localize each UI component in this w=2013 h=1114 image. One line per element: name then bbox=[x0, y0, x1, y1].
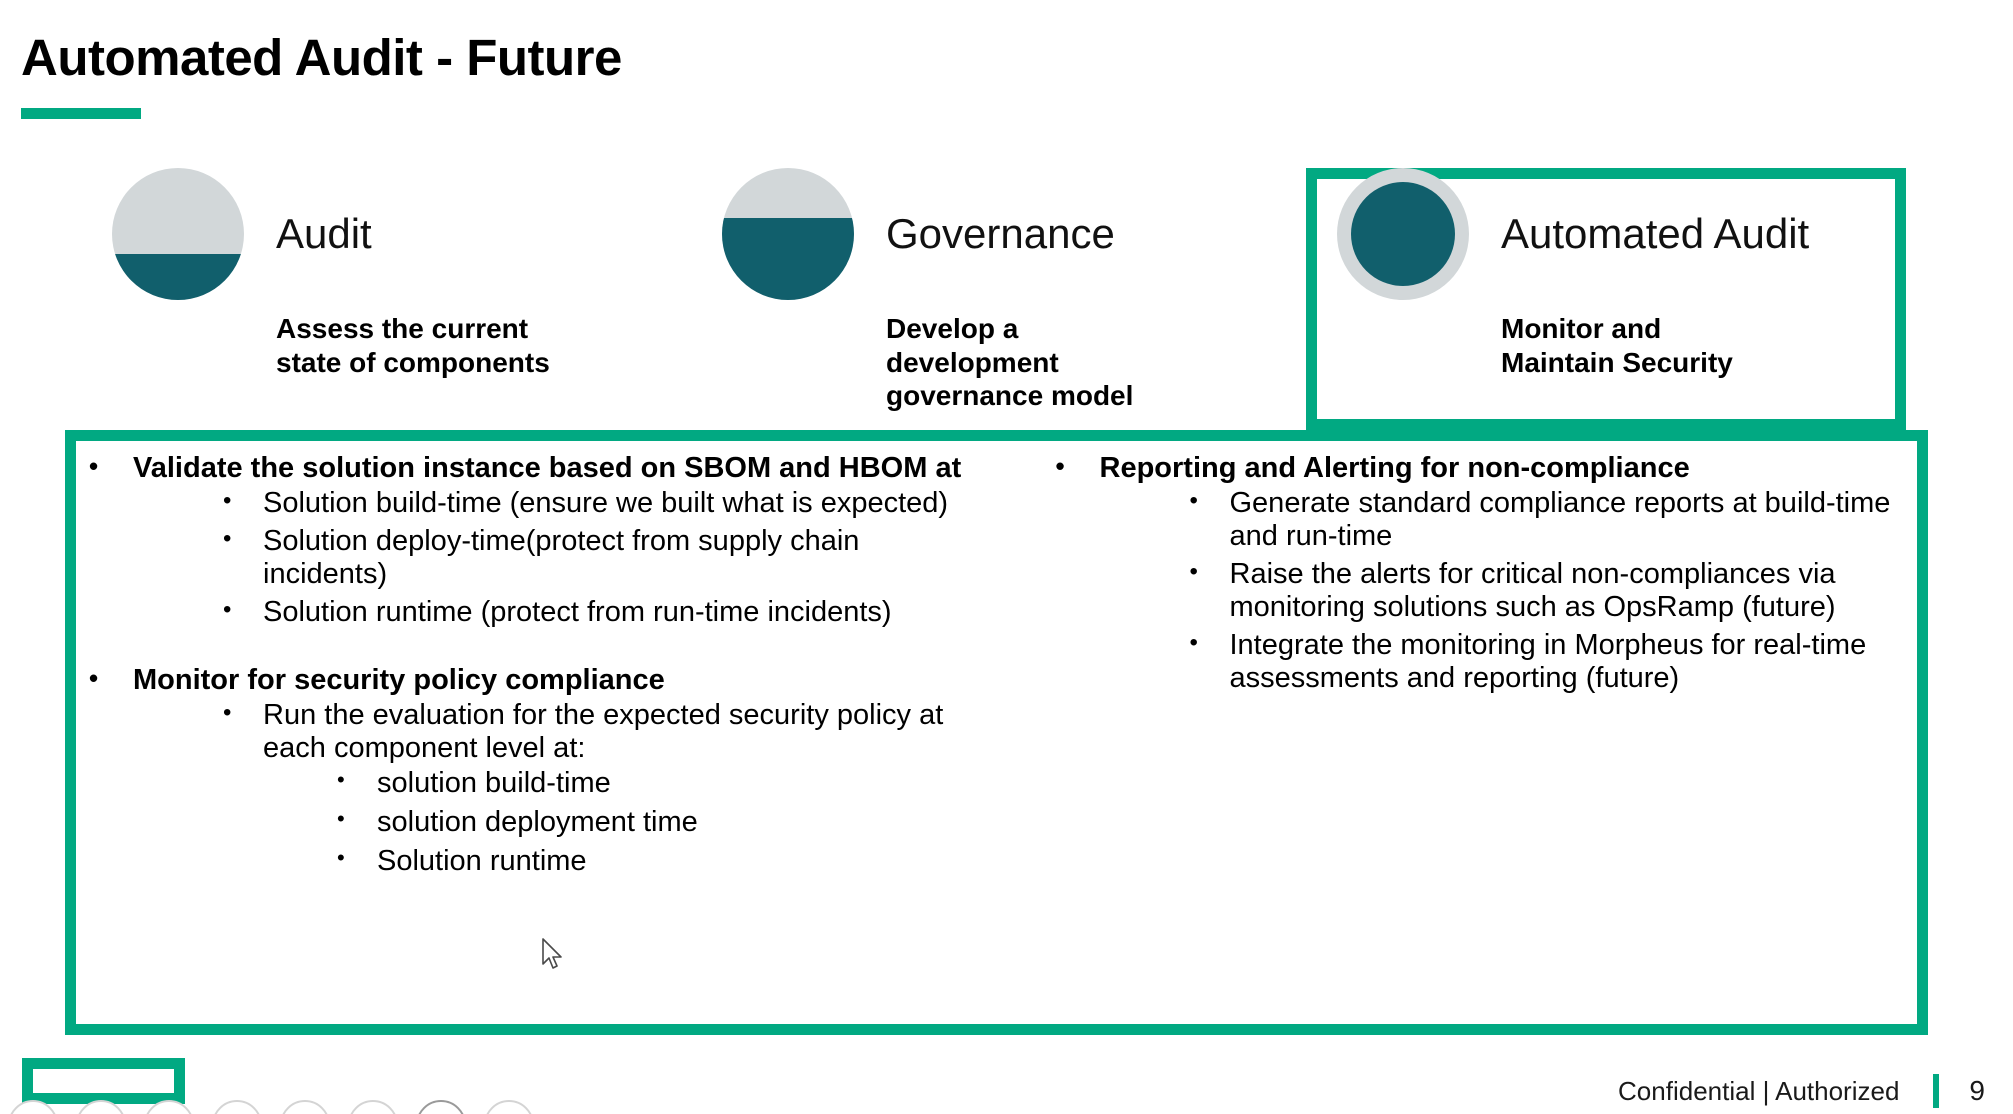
bullet-text: Solution build-time (ensure we built wha… bbox=[263, 487, 987, 520]
stage-audit-subtitle: Assess the current state of components bbox=[276, 312, 552, 379]
bullet-text: Validate the solution instance based on … bbox=[133, 452, 987, 485]
footer: Confidential | Authorized 9 bbox=[1618, 1074, 1985, 1108]
stage-automated-audit: Automated Audit Monitor and Maintain Sec… bbox=[1337, 176, 1777, 379]
detail-right-column: Reporting and Alerting for non-complianc… bbox=[997, 452, 1929, 1032]
list-item: Run the evaluation for the expected secu… bbox=[213, 699, 987, 878]
bullet-text: Solution runtime (protect from run-time … bbox=[263, 596, 987, 629]
bullet-text: Run the evaluation for the expected secu… bbox=[263, 699, 987, 765]
audit-fill-circle-icon bbox=[112, 168, 244, 300]
explorer-icon[interactable] bbox=[484, 1100, 534, 1114]
left-sublist-1: Solution build-time (ensure we built wha… bbox=[133, 487, 987, 629]
left-sublist-2-children: solution build-time solution deployment … bbox=[263, 767, 987, 878]
mail-icon[interactable] bbox=[348, 1100, 398, 1114]
list-item: Solution runtime bbox=[325, 845, 987, 879]
page-title: Automated Audit - Future bbox=[21, 28, 622, 87]
list-item: Generate standard compliance reports at … bbox=[1180, 487, 1919, 553]
right-sublist-1: Generate standard compliance reports at … bbox=[1100, 487, 1919, 695]
list-item: solution deployment time bbox=[325, 806, 987, 840]
teams-icon[interactable] bbox=[416, 1100, 466, 1114]
list-item: Integrate the monitoring in Morpheus for… bbox=[1180, 629, 1919, 695]
stage-governance-label: Governance bbox=[886, 210, 1115, 258]
stage-governance-header: Governance bbox=[722, 176, 1142, 292]
list-item: Solution deploy-time(protect from supply… bbox=[213, 525, 987, 591]
bullet-text: Monitor for security policy compliance bbox=[133, 664, 987, 697]
list-item: solution build-time bbox=[325, 767, 987, 801]
footer-page-number: 9 bbox=[1969, 1075, 1985, 1107]
stage-governance: Governance Develop a development governa… bbox=[722, 176, 1142, 413]
right-bullet-list: Reporting and Alerting for non-complianc… bbox=[1052, 452, 1919, 695]
left-sublist-2: Run the evaluation for the expected secu… bbox=[133, 699, 987, 878]
bullet-text: solution build-time bbox=[377, 767, 987, 801]
bullet-text: Generate standard compliance reports at … bbox=[1230, 487, 1919, 553]
governance-fill-circle-icon bbox=[722, 168, 854, 300]
title-accent-rule bbox=[21, 108, 141, 119]
bullet-text: Integrate the monitoring in Morpheus for… bbox=[1230, 629, 1919, 695]
automated-audit-fill-circle-icon bbox=[1337, 168, 1469, 300]
list-item: Reporting and Alerting for non-complianc… bbox=[1052, 452, 1919, 695]
list-item: Raise the alerts for critical non-compli… bbox=[1180, 558, 1919, 624]
stage-audit: Audit Assess the current state of compon… bbox=[112, 176, 552, 379]
bullet-text: solution deployment time bbox=[377, 806, 987, 840]
stage-row: Audit Assess the current state of compon… bbox=[0, 176, 2013, 436]
detail-body: Validate the solution instance based on … bbox=[65, 452, 1928, 1032]
list-item: Validate the solution instance based on … bbox=[85, 452, 987, 629]
footer-classification: Confidential | Authorized bbox=[1618, 1076, 1899, 1107]
stage-automated-audit-label: Automated Audit bbox=[1501, 210, 1809, 258]
footer-separator bbox=[1933, 1074, 1939, 1108]
bullet-text: Reporting and Alerting for non-complianc… bbox=[1100, 452, 1919, 485]
stage-audit-label: Audit bbox=[276, 210, 372, 258]
list-item: Solution runtime (protect from run-time … bbox=[213, 596, 987, 629]
stage-automated-audit-subtitle: Monitor and Maintain Security bbox=[1501, 312, 1777, 379]
list-item: Monitor for security policy compliance R… bbox=[85, 664, 987, 878]
left-bullet-list: Validate the solution instance based on … bbox=[85, 452, 987, 878]
task-view-icon[interactable] bbox=[212, 1100, 262, 1114]
edge-browser-icon[interactable] bbox=[280, 1100, 330, 1114]
bullet-text: Solution deploy-time(protect from supply… bbox=[263, 525, 987, 591]
bullet-text: Solution runtime bbox=[377, 845, 987, 879]
detail-left-column: Validate the solution instance based on … bbox=[65, 452, 997, 1032]
slide-canvas: Automated Audit - Future Audit Assess th… bbox=[0, 0, 2013, 1114]
stage-governance-subtitle: Develop a development governance model bbox=[886, 312, 1142, 413]
stage-audit-header: Audit bbox=[112, 176, 552, 292]
list-spacer bbox=[85, 634, 987, 664]
list-item: Solution build-time (ensure we built wha… bbox=[213, 487, 987, 520]
bullet-text: Raise the alerts for critical non-compli… bbox=[1230, 558, 1919, 624]
stage-automated-audit-header: Automated Audit bbox=[1337, 176, 1777, 292]
hpe-logo bbox=[22, 1058, 185, 1104]
